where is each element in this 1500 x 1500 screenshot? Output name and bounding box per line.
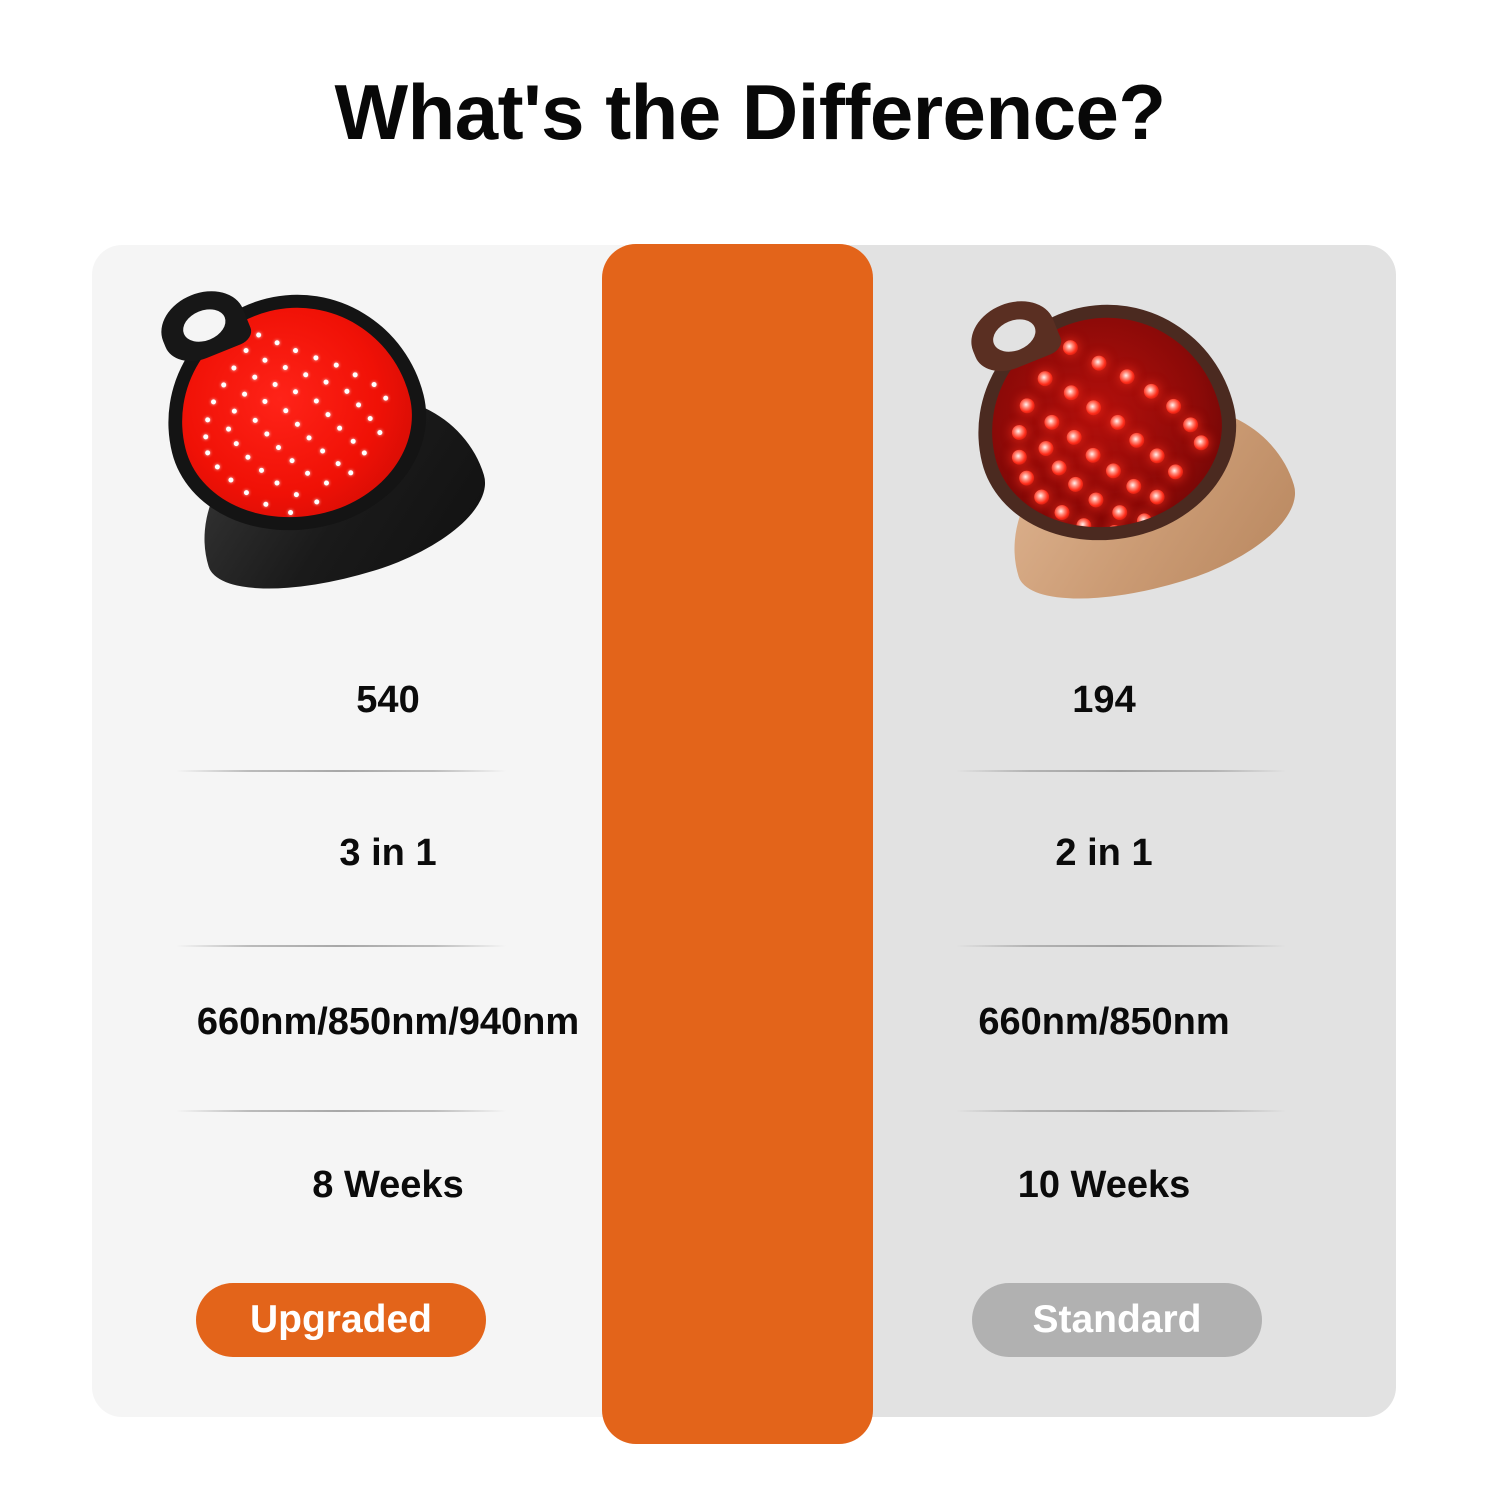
row-divider <box>956 770 1286 772</box>
badge-standard[interactable]: Standard <box>972 1283 1262 1357</box>
product-image-standard-cap <box>950 295 1350 595</box>
spec-value-standard-wavelengths: 660nm/850nm <box>812 1000 1396 1045</box>
badge-upgraded[interactable]: Upgraded <box>196 1283 486 1357</box>
row-divider <box>176 945 506 947</box>
spec-value-standard-leds: 194 <box>812 678 1396 723</box>
spec-value-standard-efficacy: 10 Weeks <box>812 1163 1396 1208</box>
comparison-infographic: What's the Difference? <box>0 0 1500 1500</box>
spec-value-upgraded-wavelengths: 660nm/850nm/940nm <box>92 1000 684 1045</box>
spec-value-standard-chips: 2 in 1 <box>812 831 1396 876</box>
spec-value-upgraded-leds: 540 <box>92 678 684 723</box>
spec-value-upgraded-efficacy: 8 Weeks <box>92 1163 684 1208</box>
row-divider <box>176 1110 506 1112</box>
spec-value-upgraded-chips: 3 in 1 <box>92 831 684 876</box>
row-divider <box>956 1110 1286 1112</box>
row-divider <box>176 770 506 772</box>
panel-feature-labels <box>602 244 873 1444</box>
row-divider <box>956 945 1286 947</box>
page-title: What's the Difference? <box>0 72 1500 154</box>
product-image-upgraded-cap <box>140 285 540 585</box>
